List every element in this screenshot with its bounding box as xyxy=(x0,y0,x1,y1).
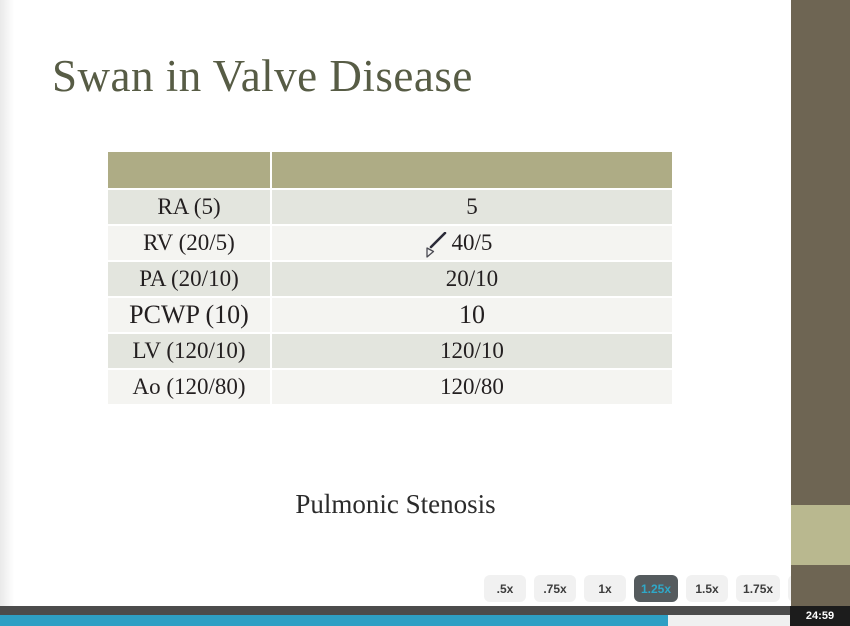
table-cell-label: RV (20/5) xyxy=(108,226,270,260)
table-cell-value: 120/10 xyxy=(272,334,672,368)
progress-bar-track[interactable] xyxy=(668,615,790,626)
table-cell-label: PA (20/10) xyxy=(108,262,270,296)
speed-button-2x[interactable]: 2x xyxy=(788,575,791,602)
table-row: PA (20/10)20/10 xyxy=(108,262,672,296)
table-cell-value: 10 xyxy=(272,298,672,332)
table-row: RV (20/5)40/5 xyxy=(108,226,672,260)
presentation-player-screen: Swan in Valve Disease RA (5)5RV (20/5)40… xyxy=(0,0,850,626)
table-header-row xyxy=(108,152,672,188)
table-cell-label: LV (120/10) xyxy=(108,334,270,368)
table-cell-value: 120/80 xyxy=(272,370,672,404)
speed-button-5x[interactable]: .5x xyxy=(484,575,526,602)
speed-button-15x[interactable]: 1.5x xyxy=(686,575,728,602)
table-cell-label: Ao (120/80) xyxy=(108,370,270,404)
table-row: PCWP (10)10 xyxy=(108,298,672,332)
table-row: Ao (120/80)120/80 xyxy=(108,370,672,404)
slide-side-band-accent xyxy=(791,505,850,565)
table-header-label-cell xyxy=(108,152,270,188)
table-cell-value: 5 xyxy=(272,190,672,224)
table-header-value-cell xyxy=(272,152,672,188)
speed-button-125x[interactable]: 1.25x xyxy=(634,575,678,602)
speed-button-75x[interactable]: .75x xyxy=(534,575,576,602)
table-cell-label: PCWP (10) xyxy=(108,298,270,332)
slide-title: Swan in Valve Disease xyxy=(52,50,473,102)
playback-speed-controls: .5x.75x1x1.25x1.5x1.75x2x xyxy=(484,575,791,602)
table-row: LV (120/10)120/10 xyxy=(108,334,672,368)
table-cell-label: RA (5) xyxy=(108,190,270,224)
slide-subtitle: Pulmonic Stenosis xyxy=(0,489,791,520)
player-bar[interactable] xyxy=(0,606,850,626)
speed-button-175x[interactable]: 1.75x xyxy=(736,575,780,602)
slide-canvas[interactable]: Swan in Valve Disease RA (5)5RV (20/5)40… xyxy=(0,0,791,606)
pressure-table: RA (5)5RV (20/5)40/5PA (20/10)20/10PCWP … xyxy=(106,150,674,406)
table-cell-value: 40/5 xyxy=(272,226,672,260)
table-row: RA (5)5 xyxy=(108,190,672,224)
slide-side-band xyxy=(791,0,850,606)
speed-button-1x[interactable]: 1x xyxy=(584,575,626,602)
progress-bar-fill[interactable] xyxy=(0,615,668,626)
time-remaining-label: 24:59 xyxy=(790,606,850,626)
table-cell-value: 20/10 xyxy=(272,262,672,296)
